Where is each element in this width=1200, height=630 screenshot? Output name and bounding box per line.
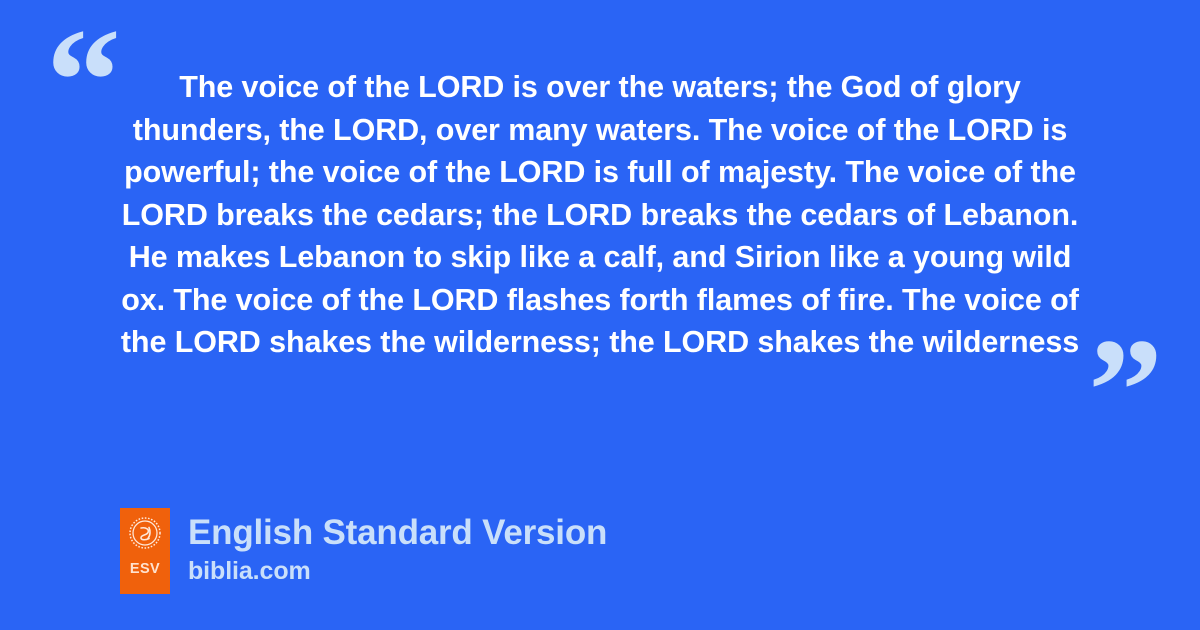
esv-logo: ESV	[120, 508, 170, 594]
quote-text: The voice of the LORD is over the waters…	[110, 66, 1090, 364]
esv-seal-icon	[129, 517, 161, 549]
quote-card: “ The voice of the LORD is over the wate…	[0, 0, 1200, 630]
attribution: ESV English Standard Version biblia.com	[120, 508, 607, 594]
site-url[interactable]: biblia.com	[188, 556, 607, 586]
closing-quote-icon: ”	[1088, 316, 1163, 466]
attribution-text: English Standard Version biblia.com	[188, 508, 607, 586]
esv-abbrev-label: ESV	[130, 562, 160, 577]
bible-version-name: English Standard Version	[188, 511, 607, 555]
